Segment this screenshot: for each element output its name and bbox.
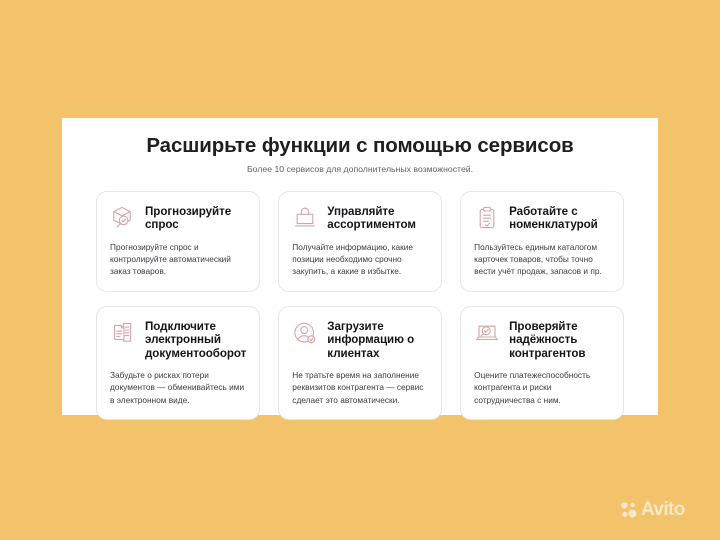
page-title: Расширьте функции с помощью сервисов xyxy=(96,134,624,158)
page-subtitle: Более 10 сервисов для дополнительных воз… xyxy=(96,164,624,175)
card-title: Подключите электронный документооборот xyxy=(145,319,246,361)
avito-watermark: Avito xyxy=(620,500,685,519)
card-description: Пользуйтесь единым каталогом карточек то… xyxy=(474,241,610,278)
card-description: Прогнозируйте спрос и контролируйте авто… xyxy=(110,241,246,278)
shopping-bag-icon xyxy=(292,205,318,231)
card-description: Забудьте о рисках потери документов — об… xyxy=(110,369,246,406)
card-header: Прогнозируйте спрос xyxy=(110,204,246,232)
documents-stack-icon xyxy=(110,320,136,346)
screenshot-root: Расширьте функции с помощью сервисов Бол… xyxy=(0,0,720,540)
card-title: Работайте с номенклатурой xyxy=(509,204,610,232)
user-verified-icon xyxy=(292,320,318,346)
card-title: Проверяйте надёжность контрагентов xyxy=(509,319,610,361)
service-card[interactable]: Управляйте ассортиментом Получайте инфор… xyxy=(278,191,442,292)
service-card[interactable]: Проверяйте надёжность контрагентов Оцени… xyxy=(460,306,624,420)
avito-wordmark: Avito xyxy=(641,500,685,519)
card-title: Управляйте ассортиментом xyxy=(327,204,428,232)
box-magnifier-check-icon xyxy=(110,205,136,231)
services-panel: Расширьте функции с помощью сервисов Бол… xyxy=(62,118,658,415)
service-card[interactable]: Работайте с номенклатурой Пользуйтесь ед… xyxy=(460,191,624,292)
card-header: Проверяйте надёжность контрагентов xyxy=(474,319,610,361)
service-card[interactable]: Загрузите информацию о клиентах Не трать… xyxy=(278,306,442,420)
service-cards-grid: Прогнозируйте спрос Прогнозируйте спрос … xyxy=(96,191,624,420)
card-header: Загрузите информацию о клиентах xyxy=(292,319,428,361)
card-header: Работайте с номенклатурой xyxy=(474,204,610,232)
card-description: Не тратьте время на заполнение реквизито… xyxy=(292,369,428,406)
card-description: Получайте информацию, какие позиции необ… xyxy=(292,241,428,278)
card-title: Прогнозируйте спрос xyxy=(145,204,246,232)
card-header: Управляйте ассортиментом xyxy=(292,204,428,232)
laptop-magnifier-check-icon xyxy=(474,320,500,346)
card-header: Подключите электронный документооборот xyxy=(110,319,246,361)
card-description: Оцените платежеспособность контрагента и… xyxy=(474,369,610,406)
service-card[interactable]: Подключите электронный документооборот З… xyxy=(96,306,260,420)
clipboard-checklist-icon xyxy=(474,205,500,231)
service-card[interactable]: Прогнозируйте спрос Прогнозируйте спрос … xyxy=(96,191,260,292)
avito-dots-icon xyxy=(620,501,638,519)
card-title: Загрузите информацию о клиентах xyxy=(327,319,428,361)
